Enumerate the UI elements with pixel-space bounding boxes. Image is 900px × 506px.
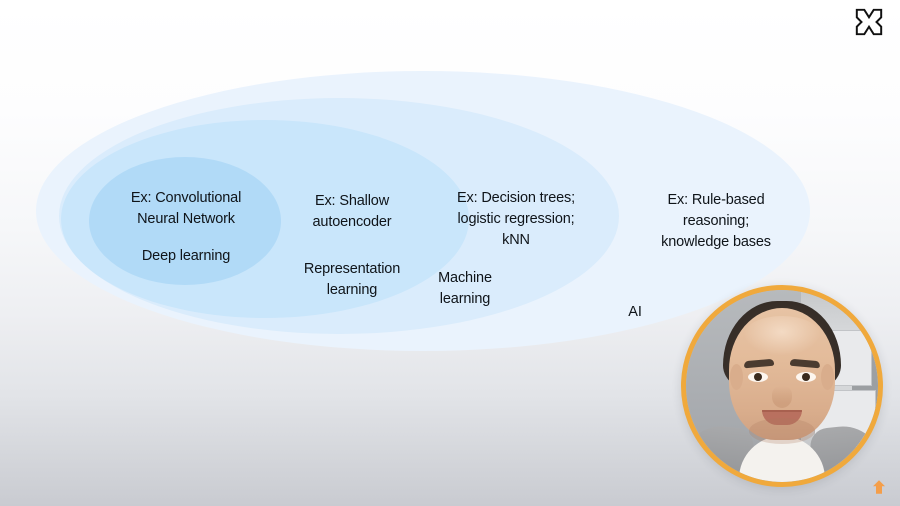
presenter-nose: [772, 386, 792, 408]
presenter-webcam-bubble[interactable]: [681, 285, 883, 487]
slide-canvas: Ex: Convolutional Neural Network Deep le…: [0, 0, 900, 506]
presenter-eye-left: [748, 372, 768, 382]
presenter-forehead-highlight: [743, 316, 821, 356]
machine-learning-label: Machine learning: [406, 268, 524, 310]
brand-logo-icon: [854, 7, 884, 37]
presenter-chin-shadow: [749, 418, 815, 444]
presenter-pupil-right: [802, 373, 810, 381]
deep-learning-example-text: Ex: Convolutional Neural Network: [96, 188, 276, 230]
presenter-ear-right: [821, 364, 834, 390]
webcam-video-frame: [686, 290, 878, 482]
ai-example-text: Ex: Rule-based reasoning; knowledge base…: [602, 190, 830, 253]
presenter-eye-right: [796, 372, 816, 382]
presenter-pupil-left: [754, 373, 762, 381]
ai-label: AI: [592, 302, 678, 323]
machine-learning-example-text: Ex: Decision trees; logistic regression;…: [408, 188, 624, 251]
deep-learning-label: Deep learning: [96, 246, 276, 267]
presenter-ear-left: [730, 364, 743, 390]
up-arrow-icon[interactable]: [870, 478, 888, 496]
